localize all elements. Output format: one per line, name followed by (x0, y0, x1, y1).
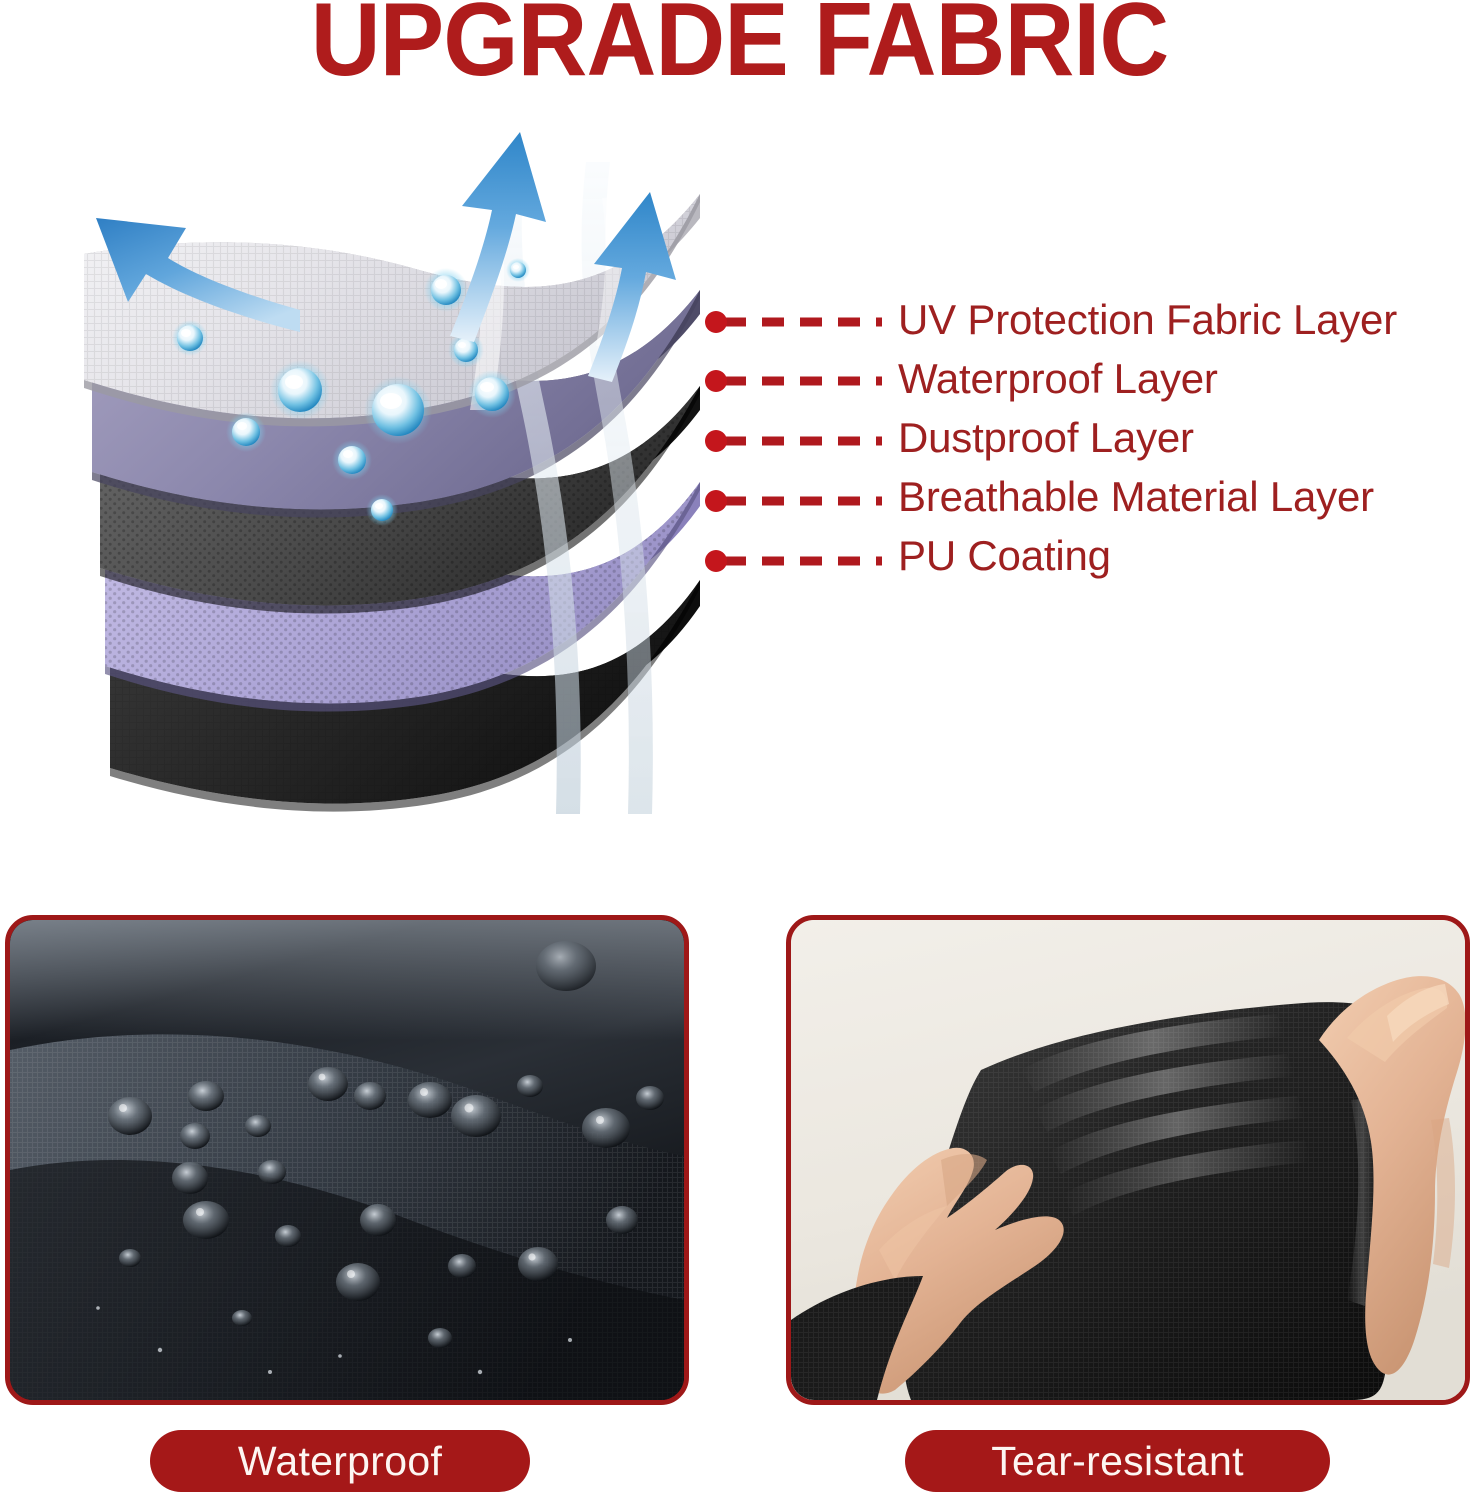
badge-label: Tear-resistant (991, 1438, 1244, 1485)
layer-label-text: PU Coating (898, 534, 1111, 578)
layer-label-dustproof: Dustproof Layer (898, 408, 1478, 467)
layer-label-breathable: Breathable Material Layer (898, 467, 1478, 526)
layer-label-uv: UV Protection Fabric Layer (898, 290, 1478, 349)
waterproof-photo (10, 920, 684, 1400)
photo-panel-tear-resistant (786, 915, 1470, 1405)
layer-label-text: Breathable Material Layer (898, 475, 1374, 519)
badge-tear-resistant: Tear-resistant (905, 1430, 1330, 1492)
layer-label-text: Waterproof Layer (898, 357, 1218, 401)
layer-label-text: UV Protection Fabric Layer (898, 298, 1397, 342)
badge-label: Waterproof (238, 1438, 442, 1485)
layer-label-waterproof: Waterproof Layer (898, 349, 1478, 408)
badge-waterproof: Waterproof (150, 1430, 530, 1492)
tear-resistant-photo (791, 920, 1465, 1400)
layer-label-list: UV Protection Fabric Layer Waterproof La… (898, 290, 1478, 585)
layer-label-text: Dustproof Layer (898, 416, 1194, 460)
layer-label-pu: PU Coating (898, 526, 1478, 585)
page-title: UPGRADE FABRIC (52, 0, 1427, 92)
photo-panel-waterproof (5, 915, 689, 1405)
